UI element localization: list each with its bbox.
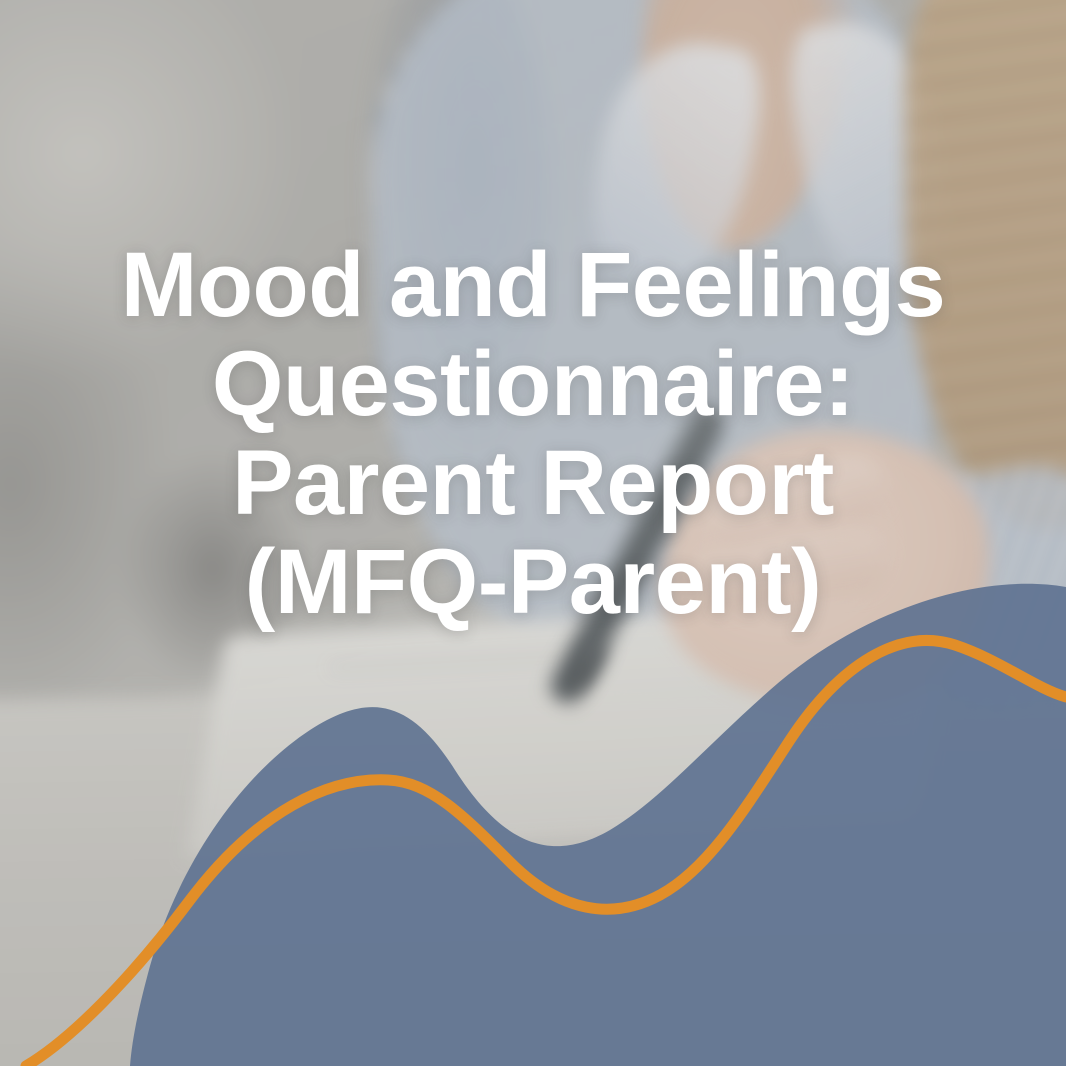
page-title: Mood and Feelings Questionnaire: Parent … [0, 236, 1066, 632]
social-card: Mood and Feelings Questionnaire: Parent … [0, 0, 1066, 1066]
title-line-1: Mood and Feelings [60, 236, 1006, 335]
title-line-4: (MFQ-Parent) [60, 533, 1006, 632]
title-line-2: Questionnaire: [60, 335, 1006, 434]
title-line-3: Parent Report [60, 434, 1006, 533]
